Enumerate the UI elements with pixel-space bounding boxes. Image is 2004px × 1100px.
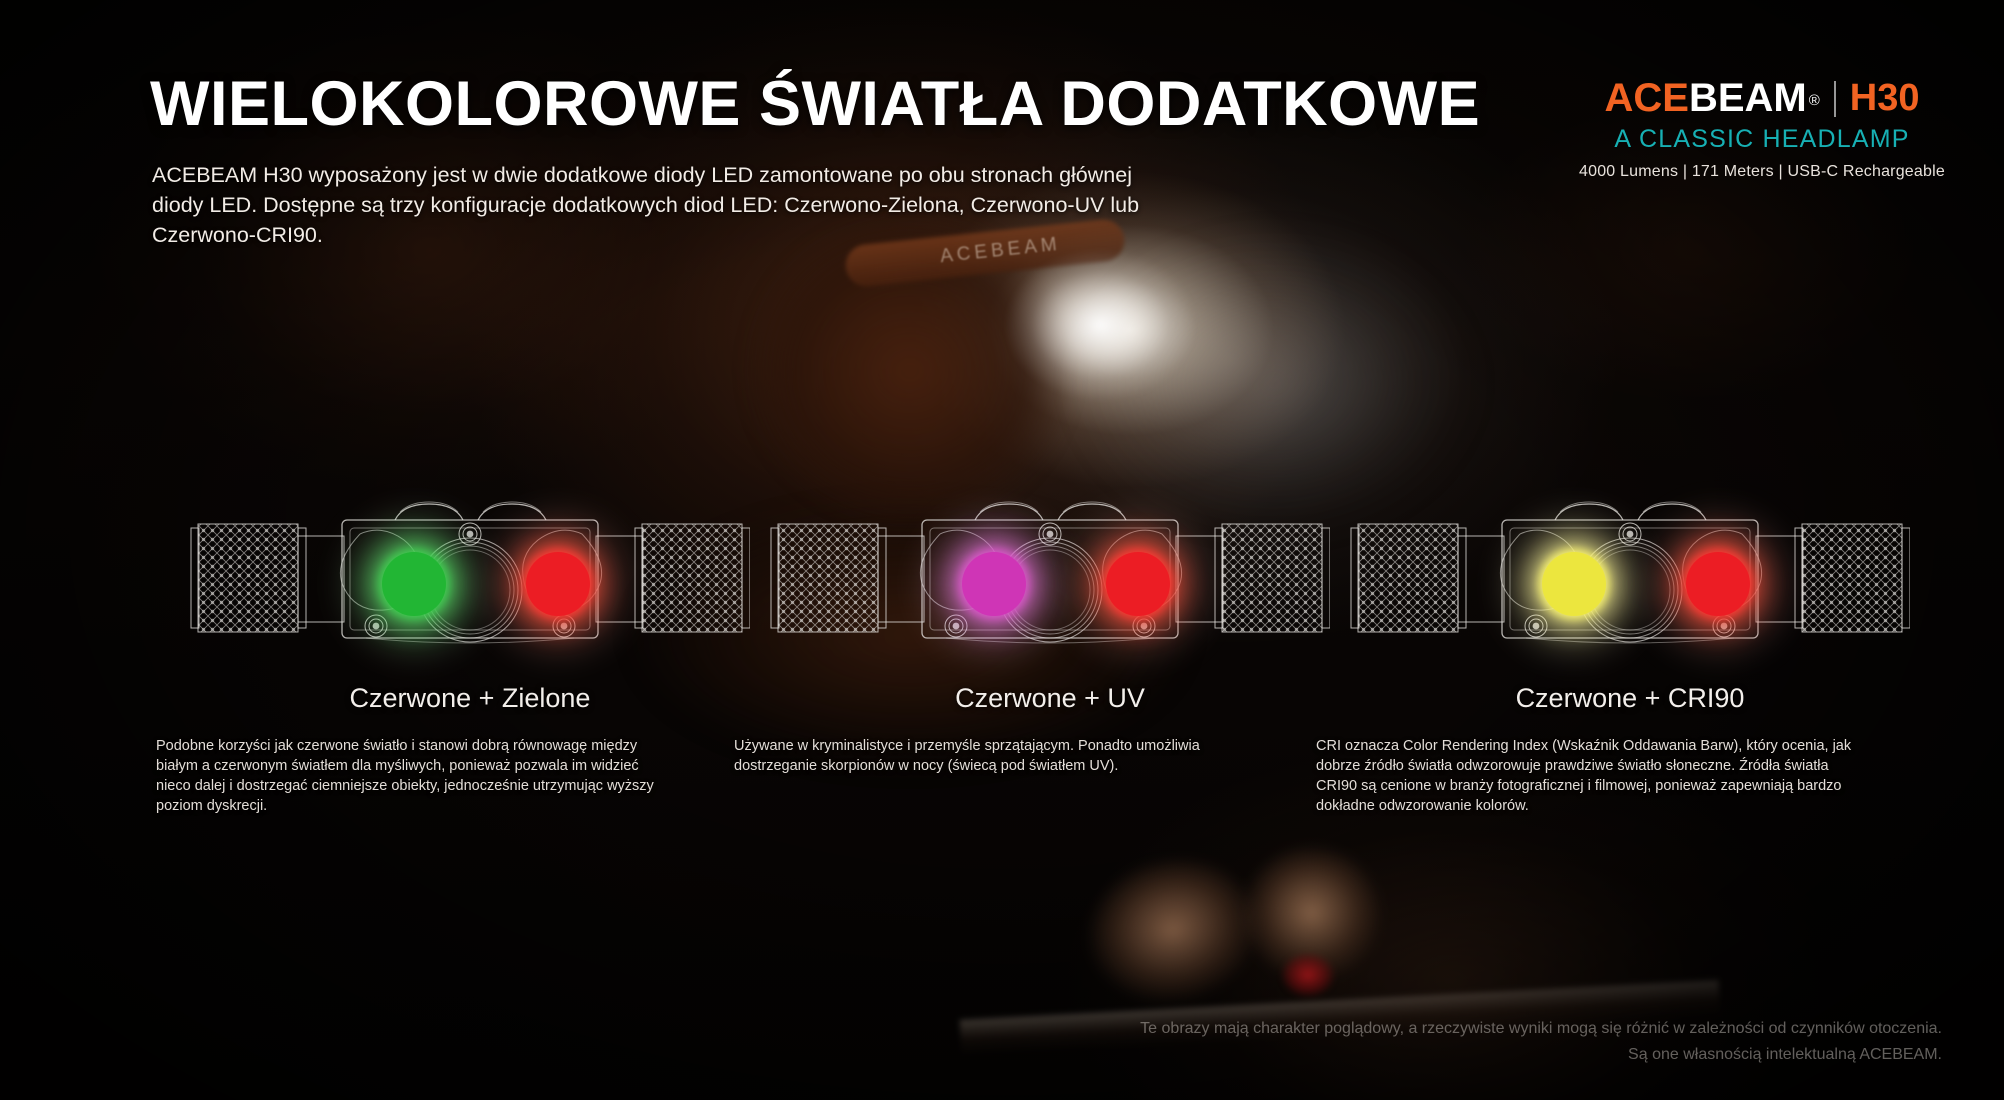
green-led [382,552,446,616]
brand-divider [1834,81,1836,117]
red-led [1686,552,1750,616]
red-cord [1272,945,1344,1005]
brand-tagline: A CLASSIC HEADLAMP [1576,125,1948,154]
brand-block: ACEBEAM® H30 A CLASSIC HEADLAMP 4000 Lum… [1576,76,1948,181]
brand-wordmark: ACEBEAM® [1604,76,1819,121]
red-led [1106,552,1170,616]
variant-caption: Czerwone + CRI90 [1320,683,1940,714]
variant-caption: Czerwone + UV [740,683,1360,714]
marketing-banner: ACEBEAM WIELOKOLOROWE ŚWIATŁA DODATKOWE … [0,0,2004,1100]
variant-description: Używane w kryminalistyce i przemyśle spr… [734,736,1270,776]
brand-name-ace: ACE [1604,76,1688,120]
headlamp-diagram-green [190,490,750,665]
uv-led [962,552,1026,616]
headlamp-beam [985,225,1315,475]
page-title: WIELOKOLOROWE ŚWIATŁA DODATKOWE [150,68,1480,140]
red-led [526,552,590,616]
cri90-led [1542,552,1606,616]
headlamp-diagram-uv [770,490,1330,665]
variant-column-cri90: Czerwone + CRI90 CRI oznacza Color Rende… [1320,490,1940,816]
intro-paragraph: ACEBEAM H30 wyposażony jest w dwie dodat… [152,160,1162,250]
variant-caption: Czerwone + Zielone [160,683,780,714]
variant-column-green: Czerwone + Zielone Podobne korzyści jak … [160,490,780,816]
disclaimer-line-2: Są one własnością intelektualną ACEBEAM. [942,1042,1942,1068]
disclaimer-line-1: Te obrazy mają charakter poglądowy, a rz… [942,1016,1942,1042]
product-model: H30 [1850,77,1920,120]
disclaimer: Te obrazy mają charakter poglądowy, a rz… [942,1016,1942,1068]
brand-name-beam: BEAM [1689,76,1807,120]
variant-description: Podobne korzyści jak czerwone światło i … [156,736,676,816]
product-specs: 4000 Lumens | 171 Meters | USB-C Recharg… [1576,163,1948,181]
headlamp-diagram-cri90 [1350,490,1910,665]
variant-description: CRI oznacza Color Rendering Index (Wskaź… [1316,736,1872,816]
registered-trademark-icon: ® [1809,92,1820,109]
brand-name-row: ACEBEAM® H30 [1576,76,1948,121]
variant-column-uv: Czerwone + UV Używane w kryminalistyce i… [740,490,1360,776]
